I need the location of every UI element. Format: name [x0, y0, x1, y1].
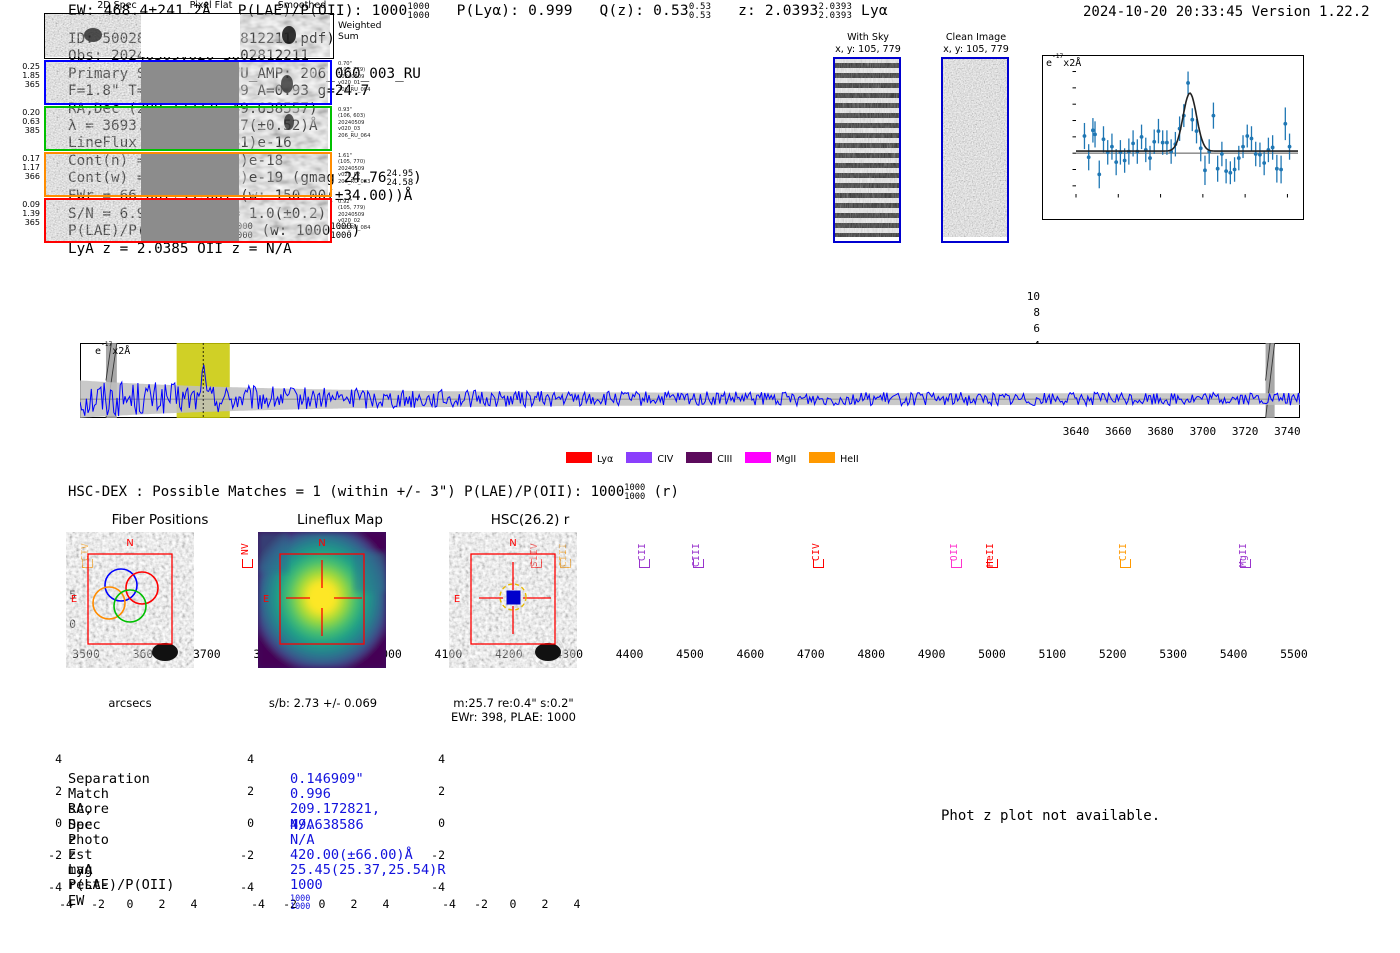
cutout-ytick: -4 — [232, 880, 254, 894]
weighted-sum-smoothed-image — [240, 14, 330, 57]
cutout-ytick: -4 — [423, 880, 445, 894]
column-header-pixelflat: Pixel Flat — [176, 0, 246, 11]
cutout-xtick: -4 — [433, 897, 465, 911]
table-key: mag — [68, 863, 93, 878]
emission-ytick: 6 — [1018, 322, 1040, 335]
header-z-fraction: 2.03932.0393 — [818, 3, 852, 21]
emission-xtick: 3700 — [1184, 425, 1222, 438]
legend-swatch — [566, 452, 592, 463]
cutout-ytick: 0 — [232, 816, 254, 830]
fiber-positions-image: N E — [66, 532, 194, 672]
legend-item-ciii: CIII — [686, 454, 732, 465]
line-marker-bracket — [951, 559, 962, 568]
line-marker-bracket — [813, 559, 824, 568]
svg-text:N: N — [318, 538, 325, 549]
legend-label: MgII — [776, 454, 796, 465]
emission-xtick: 3640 — [1057, 425, 1095, 438]
emission-line-yaxis-unit: e-17x2Å — [1046, 58, 1081, 69]
info-redshift: LyA z = 2.0385 OII z = N/A — [68, 241, 422, 258]
legend-label: CIII — [717, 454, 732, 465]
header-z-suffix: Lyα — [861, 3, 888, 19]
emission-ytick: 10 — [1018, 290, 1040, 303]
table-value: 0.146909" — [290, 772, 364, 787]
weighted-sum-row — [44, 13, 334, 59]
emission-ytick: 8 — [1018, 306, 1040, 319]
header-plae-value: 1000 — [372, 3, 408, 19]
lineflux-map-image: N E — [258, 532, 386, 672]
header-z: z: 2.0393 — [738, 3, 818, 19]
hscdex-plae-fraction: 10001000 — [624, 484, 645, 501]
hscdex-summary: HSC-DEX : Possible Matches = 1 (within +… — [68, 484, 679, 502]
emission-xtick: 3720 — [1226, 425, 1264, 438]
legend-label: HeII — [840, 454, 859, 465]
fiber-positions-xlabel: arcsecs — [66, 696, 194, 710]
fiber-row-2 — [44, 152, 332, 197]
table-key: P(LAE)/P(OII) — [68, 878, 174, 893]
fiber-row-0-values: 0.25 1.85 365 — [0, 62, 40, 90]
cutout-xtick: -2 — [465, 897, 497, 911]
spectrum-xtick: 4800 — [846, 647, 896, 661]
emission-xtick: 3660 — [1099, 425, 1137, 438]
table-plae-fraction: 10001000 — [290, 894, 310, 911]
cutout-xtick: 0 — [497, 897, 529, 911]
cutout-ytick: -2 — [232, 848, 254, 862]
cutout-xtick: 4 — [370, 897, 402, 911]
emission-xtick: 3680 — [1142, 425, 1180, 438]
spectrum-xtick: 5400 — [1209, 647, 1259, 661]
cutout-ytick: 4 — [232, 752, 254, 766]
hsc-sublabel2: EWr: 398, PLAE: 1000 — [436, 710, 591, 724]
spectrum-xtick: 4500 — [665, 647, 715, 661]
cutout-ytick: 4 — [423, 752, 445, 766]
fiber-positions-title: Fiber Positions — [60, 512, 260, 528]
fiber-row-3 — [44, 198, 332, 243]
legend-swatch — [809, 452, 835, 463]
line-marker-bracket — [693, 559, 704, 568]
fiber-row-1-values: 0.20 0.63 385 — [0, 108, 40, 136]
clean-image — [941, 57, 1009, 243]
spectrum-xtick: 5300 — [1148, 647, 1198, 661]
fiber-row-1 — [44, 106, 332, 151]
svg-text:E: E — [263, 594, 269, 605]
table-value: N/A — [290, 818, 315, 833]
line-marker-bracket — [242, 559, 253, 568]
cutout-ytick: 0 — [423, 816, 445, 830]
header-qz: Q(z): 0.53 — [600, 3, 689, 19]
cutout-xtick: 2 — [338, 897, 370, 911]
cutout-xtick: 0 — [114, 897, 146, 911]
fiber-row-3-meta: 0.92" (105, 779) 20240509 v020_02 206_RU… — [338, 199, 394, 231]
fiber-row-0-meta: 0.70" (105, 779) 20240509 v020_01 206_RU… — [338, 61, 394, 93]
legend-item-civ: CIV — [626, 454, 673, 465]
hsc-image-title: HSC(26.2) r — [430, 512, 630, 528]
column-header-smoothed: Smoothed — [262, 0, 342, 11]
line-marker-bracket — [1240, 559, 1251, 568]
legend-label: CIV — [657, 454, 673, 465]
spectral-line-legend: LyαCIVCIIIMgIIHeII — [566, 452, 872, 465]
table-value: 25.45(25.37,25.54)R — [290, 863, 446, 878]
full-spectrum-yaxis-unit: e-17x2Å — [95, 346, 130, 357]
table-value: N/A — [290, 833, 315, 848]
spectrum-xtick: 4600 — [725, 647, 775, 661]
cutout-ytick: 0 — [40, 816, 62, 830]
spectrum-xtick: 5200 — [1088, 647, 1138, 661]
fiber-row-3-values: 0.09 1.39 365 — [0, 200, 40, 228]
svg-text:N: N — [509, 538, 516, 549]
hsc-sublabel: m:25.7 re:0.4" s:0.2" — [436, 696, 591, 710]
table-value: 0.996 — [290, 787, 331, 802]
cutout-xtick: 4 — [561, 897, 593, 911]
with-sky-title: With Sky x, y: 105, 779 — [818, 32, 918, 55]
cutout-ytick: -2 — [40, 848, 62, 862]
twod-spectrum-panel: 2D Spec Pixel Flat Smoothed — [0, 0, 390, 225]
spectrum-xtick: 4700 — [786, 647, 836, 661]
cutout-ytick: -4 — [40, 880, 62, 894]
emission-line-plot-canvas — [1042, 55, 1304, 220]
cutout-ytick: -2 — [423, 848, 445, 862]
line-marker-nv: NV — [240, 543, 251, 555]
table-value: 100010001000 — [290, 878, 323, 910]
cutout-ytick: 2 — [232, 784, 254, 798]
cutout-ytick: 4 — [40, 752, 62, 766]
weighted-sum-label: Weighted Sum — [338, 20, 382, 42]
photz-note: Phot z plot not available. — [941, 808, 1160, 824]
legend-item-heii: HeII — [809, 454, 859, 465]
fiber-row-2-values: 0.17 1.17 366 — [0, 154, 40, 182]
spectrum-xtick: 4400 — [605, 647, 655, 661]
cutout-xtick: 2 — [529, 897, 561, 911]
cutout-xtick: 2 — [146, 897, 178, 911]
lineflux-map-title: Lineflux Map — [240, 512, 440, 528]
emission-xtick: 3740 — [1268, 425, 1306, 438]
table-key: Separation — [68, 772, 150, 787]
with-sky-image — [833, 57, 901, 243]
weighted-sum-2dspec-image — [45, 14, 141, 57]
svg-text:E: E — [454, 594, 460, 605]
legend-item-mgii: MgII — [745, 454, 796, 465]
line-marker-bracket — [987, 559, 998, 568]
legend-label: Lyα — [597, 454, 613, 465]
cutout-xtick: 4 — [178, 897, 210, 911]
column-header-2dspec: 2D Spec — [82, 0, 152, 11]
weighted-sum-pixelflat-image — [141, 14, 240, 57]
header-plae-fraction: 10001000 — [407, 3, 429, 21]
fiber-row-1-meta: 0.93" (106, 603) 20240509 v020_03 206_RU… — [338, 107, 394, 139]
full-spectrum-canvas — [80, 343, 1300, 418]
legend-swatch — [626, 452, 652, 463]
line-marker-bracket — [639, 559, 650, 568]
spectrum-xtick: 4900 — [907, 647, 957, 661]
cutout-xtick: -4 — [242, 897, 274, 911]
legend-item-lyα: Lyα — [566, 454, 613, 465]
line-marker-bracket — [1120, 559, 1131, 568]
table-value: 420.00(±66.00)Å — [290, 848, 413, 863]
svg-text:E: E — [71, 594, 77, 605]
fiber-row-0 — [44, 60, 332, 105]
cutout-ytick: 2 — [40, 784, 62, 798]
svg-text:N: N — [126, 538, 133, 549]
header-plya: P(Lyα): 0.999 — [457, 3, 573, 19]
fiber-row-2-meta: 1.61" (105, 770) 20240509 v020_02 206_RU… — [338, 153, 394, 185]
hsc-image: N E — [449, 532, 577, 672]
lineflux-map-sublabel: s/b: 2.73 +/- 0.069 — [248, 696, 398, 710]
cutout-ytick: 2 — [423, 784, 445, 798]
timestamp-version: 2024-10-20 20:33:45 Version 1.22.2 — [1083, 4, 1370, 20]
clean-image-title: Clean Image x, y: 105, 779 — [926, 32, 1026, 55]
legend-swatch — [686, 452, 712, 463]
spectrum-xtick: 5500 — [1269, 647, 1319, 661]
spectrum-xtick: 5100 — [1027, 647, 1077, 661]
spectrum-xtick: 5000 — [967, 647, 1017, 661]
header-qz-fraction: 0.530.53 — [689, 3, 711, 21]
legend-swatch — [745, 452, 771, 463]
